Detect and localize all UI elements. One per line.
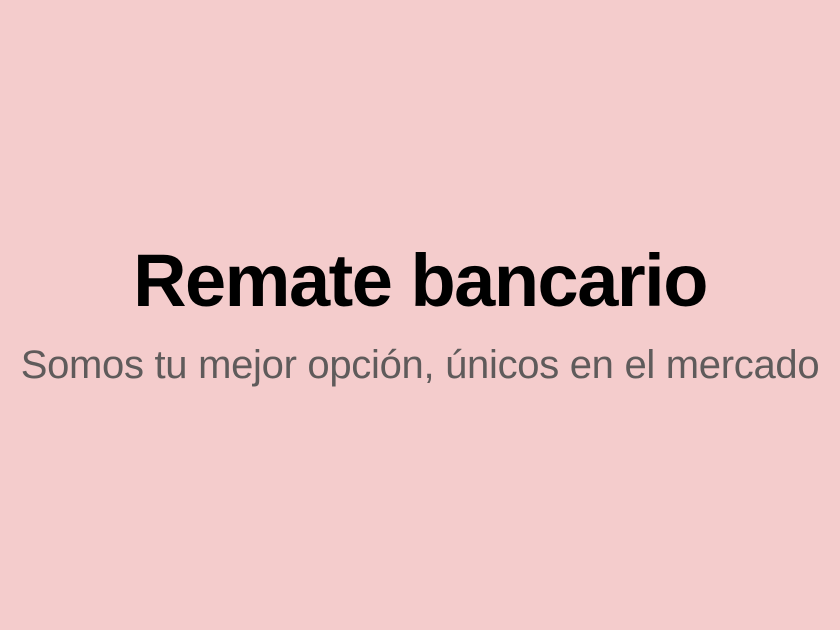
hero-banner: Remate bancario Somos tu mejor opción, ú… bbox=[0, 0, 840, 630]
hero-text-block: Remate bancario Somos tu mejor opción, ú… bbox=[0, 244, 840, 386]
page-title: Remate bancario bbox=[0, 244, 840, 318]
page-subtitle: Somos tu mejor opción, únicos en el merc… bbox=[0, 344, 840, 386]
